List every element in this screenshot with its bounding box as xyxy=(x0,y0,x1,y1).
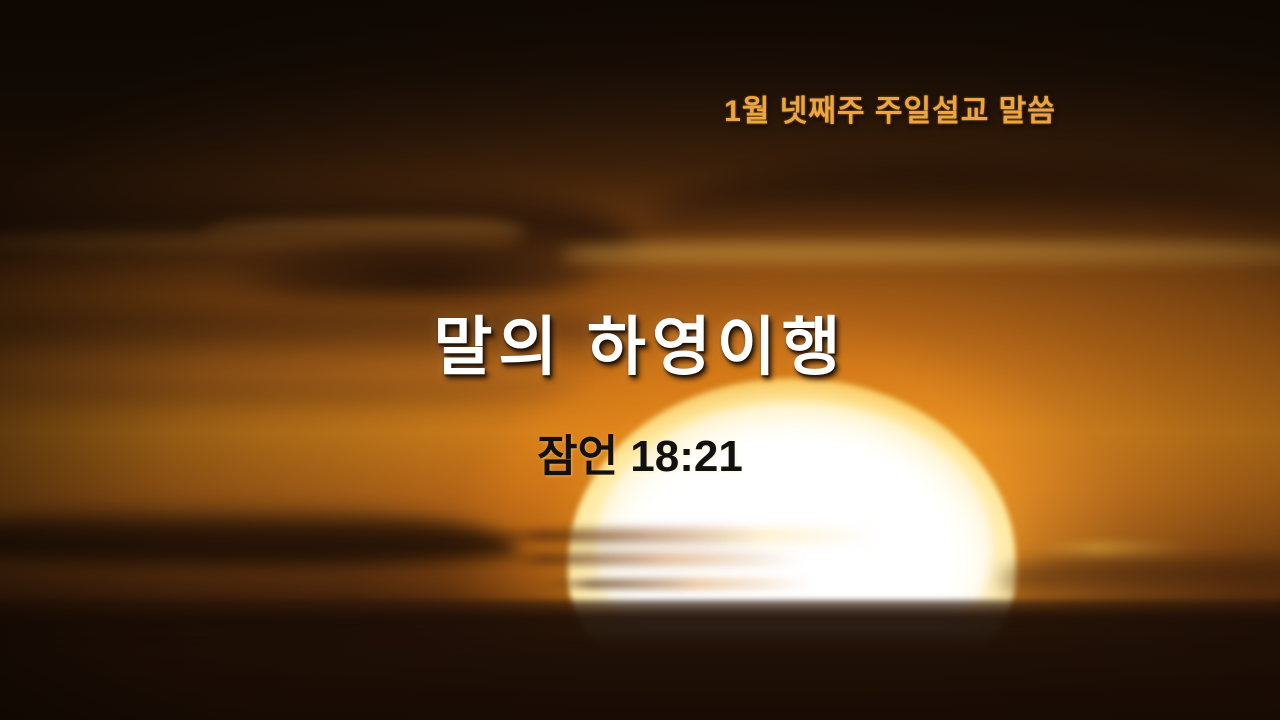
scripture-reference: 잠언 18:21 xyxy=(0,420,1280,484)
sermon-eyebrow-text: 1월 넷째주 주일설교 말씀 xyxy=(250,86,1280,130)
sermon-title-slide: 1월 넷째주 주일설교 말씀 말의 하영이행 잠언 18:21 xyxy=(0,0,1280,720)
sermon-title: 말의 하영이행 xyxy=(0,296,1280,388)
text-layer: 1월 넷째주 주일설교 말씀 말의 하영이행 잠언 18:21 xyxy=(0,0,1280,720)
